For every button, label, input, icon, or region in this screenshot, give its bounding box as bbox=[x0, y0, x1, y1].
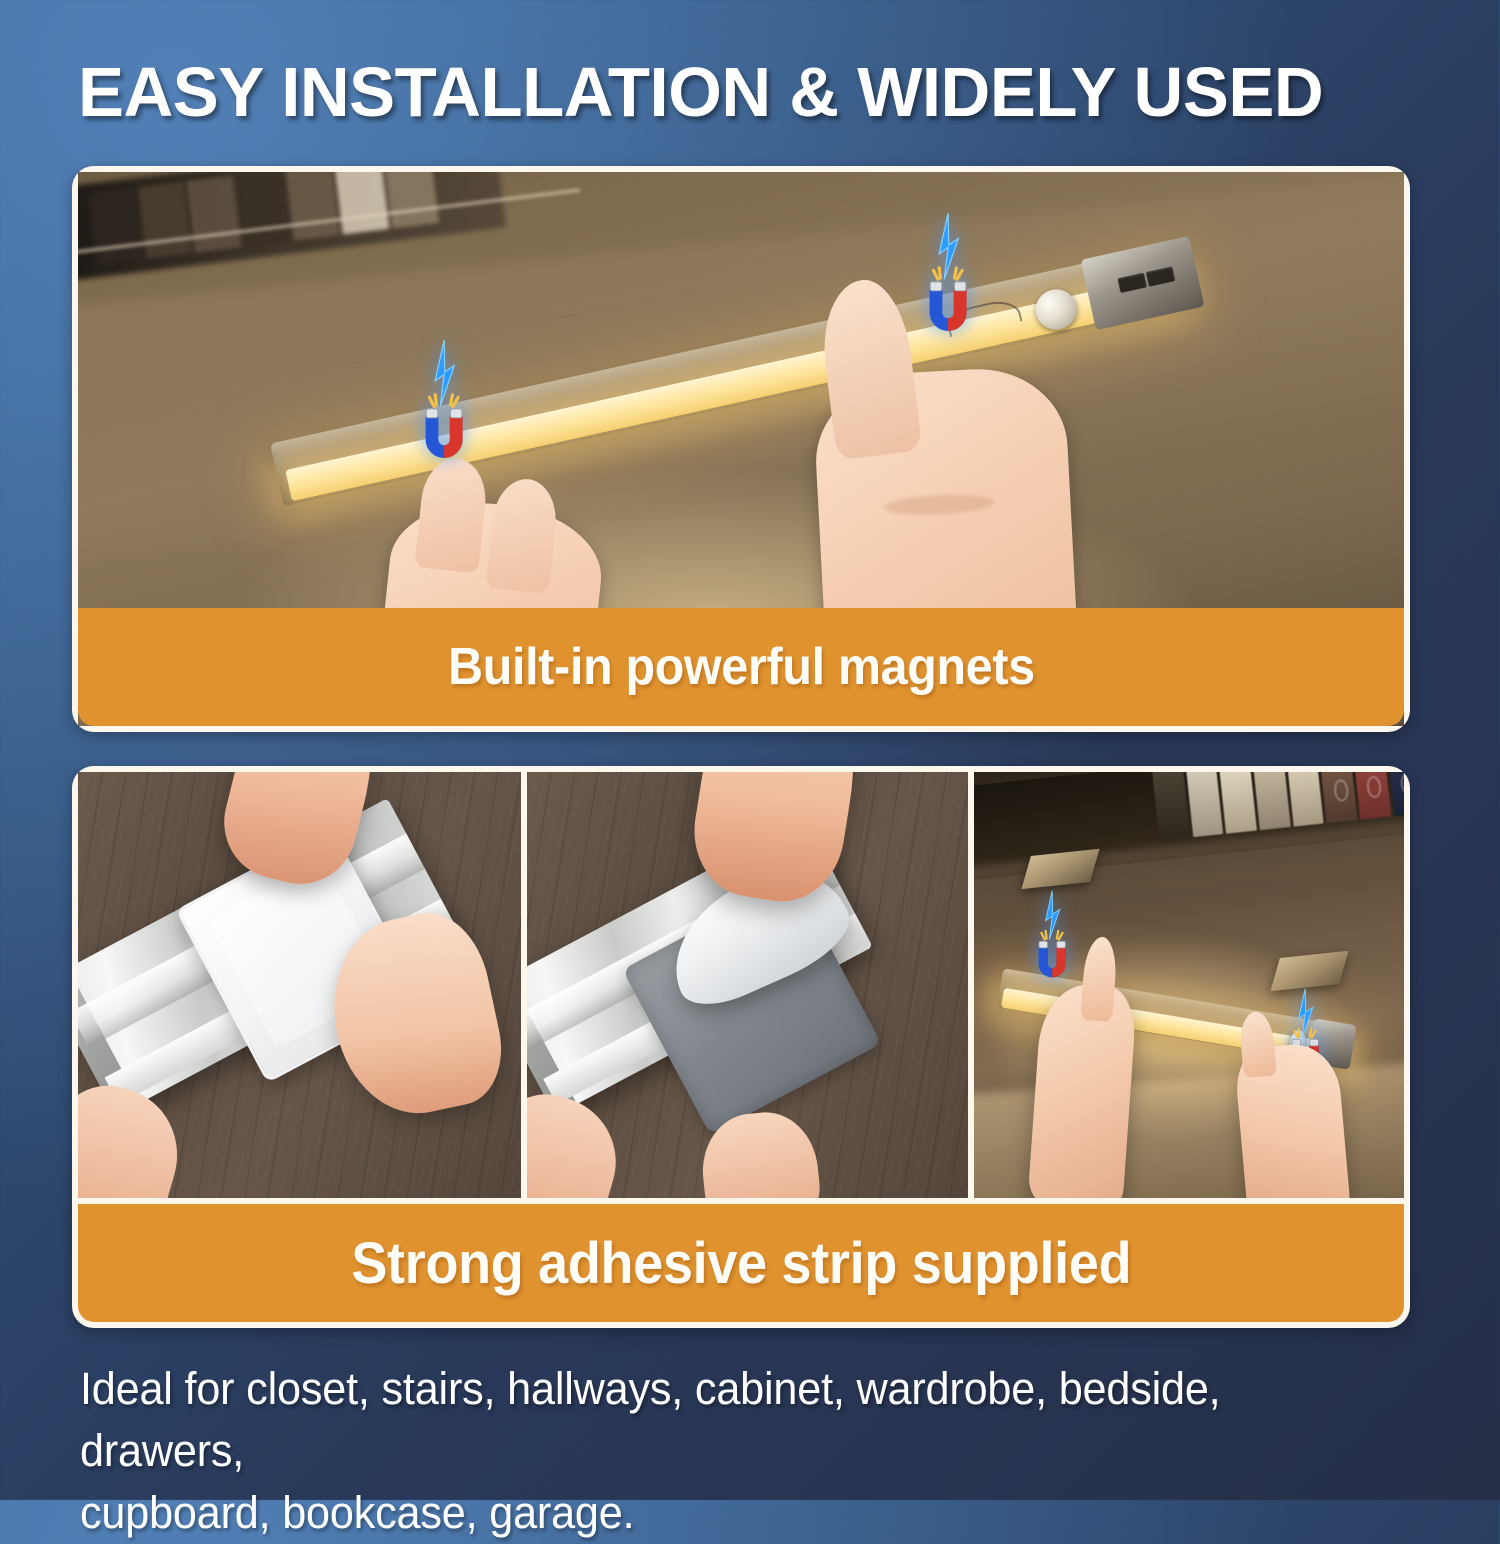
finger bbox=[1080, 936, 1118, 1022]
caption-text: Built-in powerful magnets bbox=[448, 637, 1035, 697]
photo-peeling-liner bbox=[527, 772, 969, 1198]
photo-row bbox=[78, 772, 1404, 1198]
magnet-icon bbox=[403, 335, 485, 462]
use-cases-line-1: Ideal for closet, stairs, hallways, cabi… bbox=[80, 1358, 1386, 1482]
knuckle-crease bbox=[883, 493, 995, 517]
bookshelf-scene-background bbox=[974, 772, 1404, 1198]
caption-bar-adhesive: Strong adhesive strip supplied bbox=[78, 1204, 1404, 1322]
caption-text: Strong adhesive strip supplied bbox=[351, 1230, 1131, 1297]
photo-mounted-under-bookshelf bbox=[974, 772, 1404, 1198]
page-title: EASY INSTALLATION & WIDELY USED bbox=[78, 52, 1402, 132]
magnet-icon bbox=[907, 208, 989, 335]
use-cases-text: Ideal for closet, stairs, hallways, cabi… bbox=[80, 1358, 1440, 1544]
photo-applying-adhesive-strip bbox=[78, 772, 521, 1198]
magnet-icon bbox=[1035, 887, 1069, 981]
feature-card-magnets: Built-in powerful magnets bbox=[72, 166, 1410, 732]
infographic-page: EASY INSTALLATION & WIDELY USED bbox=[0, 0, 1500, 1500]
use-cases-line-2: cupboard, bookcase, garage. bbox=[80, 1482, 1386, 1544]
feature-card-adhesive: Strong adhesive strip supplied bbox=[72, 766, 1410, 1328]
caption-bar-magnets: Built-in powerful magnets bbox=[78, 608, 1404, 726]
